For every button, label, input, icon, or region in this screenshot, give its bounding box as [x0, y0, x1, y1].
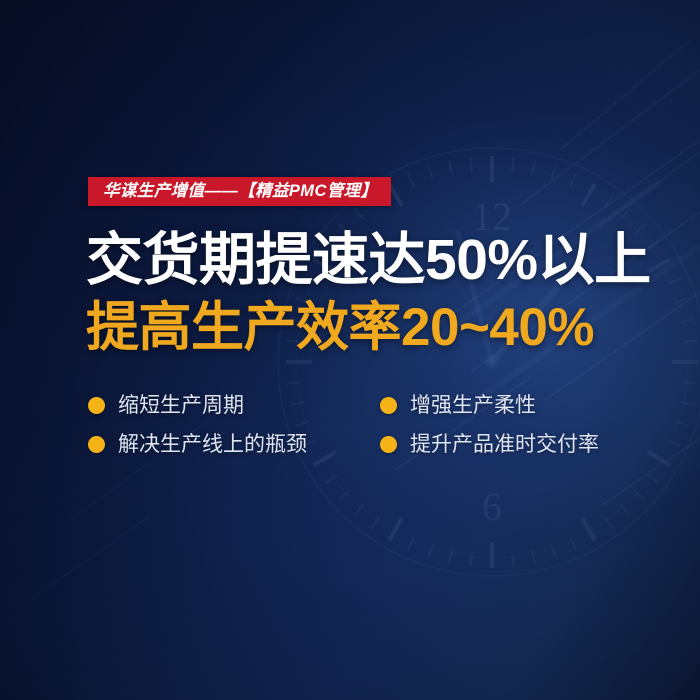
- eyebrow-label: 华谋生产增值——【精益PMC管理】: [103, 183, 377, 200]
- eyebrow-banner: 华谋生产增值——【精益PMC管理】: [88, 177, 391, 206]
- list-item-label: 提升产品准时交付率: [410, 432, 599, 457]
- benefits-list: 缩短生产周期 增强生产柔性 解决生产线上的瓶颈 提升产品准时交付率: [88, 393, 658, 457]
- headline-line-1: 交货期提速达50%以上: [86, 232, 656, 289]
- list-item-label: 缩短生产周期: [118, 393, 244, 418]
- list-item-label: 解决生产线上的瓶颈: [118, 432, 307, 457]
- list-item: 缩短生产周期: [88, 393, 366, 418]
- list-item: 解决生产线上的瓶颈: [88, 432, 366, 457]
- list-item: 提升产品准时交付率: [380, 432, 658, 457]
- headline-block: 交货期提速达50%以上 提高生产效率20~40%: [86, 232, 656, 354]
- headline-line-2: 提高生产效率20~40%: [86, 301, 656, 354]
- poster-content: 华谋生产增值——【精益PMC管理】 交货期提速达50%以上 提高生产效率20~4…: [0, 0, 700, 700]
- promo-poster: 12 6 华谋生产增值——【精益PMC管理】 交货期提速达50%以上 提高生产效…: [0, 0, 700, 700]
- bullet-dot-icon: [88, 397, 105, 414]
- bullet-dot-icon: [88, 436, 105, 453]
- list-item-label: 增强生产柔性: [410, 393, 536, 418]
- bullet-dot-icon: [380, 436, 397, 453]
- list-item: 增强生产柔性: [380, 393, 658, 418]
- bullet-dot-icon: [380, 397, 397, 414]
